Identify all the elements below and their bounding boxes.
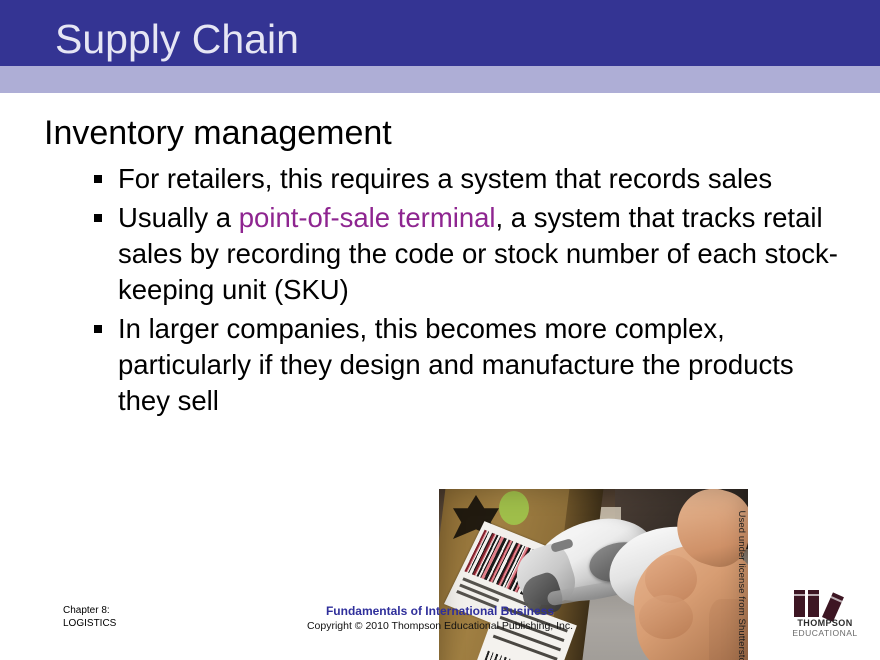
barcode-scanner-photo: [439, 489, 748, 660]
bullet-item-pos-terminal: Usually a point-of-sale terminal, a syst…: [92, 200, 852, 308]
book-icon: [808, 590, 819, 617]
bullet-text-before: Usually a: [118, 202, 239, 233]
slide-header-accent-band: [0, 66, 880, 93]
footer-center: Fundamentals of International Business C…: [250, 604, 630, 633]
books-icon: [786, 588, 864, 618]
logo-wordmark: THOMPSON: [786, 618, 864, 628]
bullet-text: For retailers, this requires a system th…: [118, 163, 772, 194]
slide-body: Inventory management For retailers, this…: [0, 93, 880, 588]
bullet-list: For retailers, this requires a system th…: [92, 161, 852, 422]
bullet-square-icon: [94, 325, 102, 333]
bullet-square-icon: [94, 214, 102, 222]
footer-copyright: Copyright © 2010 Thompson Educational Pu…: [250, 619, 630, 633]
slide-title: Supply Chain: [55, 16, 299, 62]
bullet-item-larger-companies: In larger companies, this becomes more c…: [92, 311, 852, 419]
bullet-item-retailers: For retailers, this requires a system th…: [92, 161, 852, 197]
thompson-educational-logo: THOMPSON EDUCATIONAL: [786, 588, 864, 640]
bullet-square-icon: [94, 175, 102, 183]
footer-chapter-number: Chapter 8:: [63, 604, 116, 617]
footer-chapter-name: LOGISTICS: [63, 617, 116, 630]
highlight-term-pos-terminal: point-of-sale terminal: [239, 202, 496, 233]
photo-vignette: [439, 489, 748, 660]
photo-figure: Used under license from Shutterstock, In…: [439, 489, 748, 660]
footer-book-title: Fundamentals of International Business: [250, 604, 630, 619]
book-icon: [794, 590, 805, 617]
bullet-text: In larger companies, this becomes more c…: [118, 313, 794, 416]
content-heading: Inventory management: [44, 113, 392, 153]
footer-chapter: Chapter 8: LOGISTICS: [63, 604, 116, 630]
logo-subtitle: EDUCATIONAL: [786, 628, 864, 638]
presentation-slide: Supply Chain Inventory management For re…: [0, 0, 880, 660]
photo-credit: Used under license from Shutterstock, In…: [733, 489, 748, 660]
